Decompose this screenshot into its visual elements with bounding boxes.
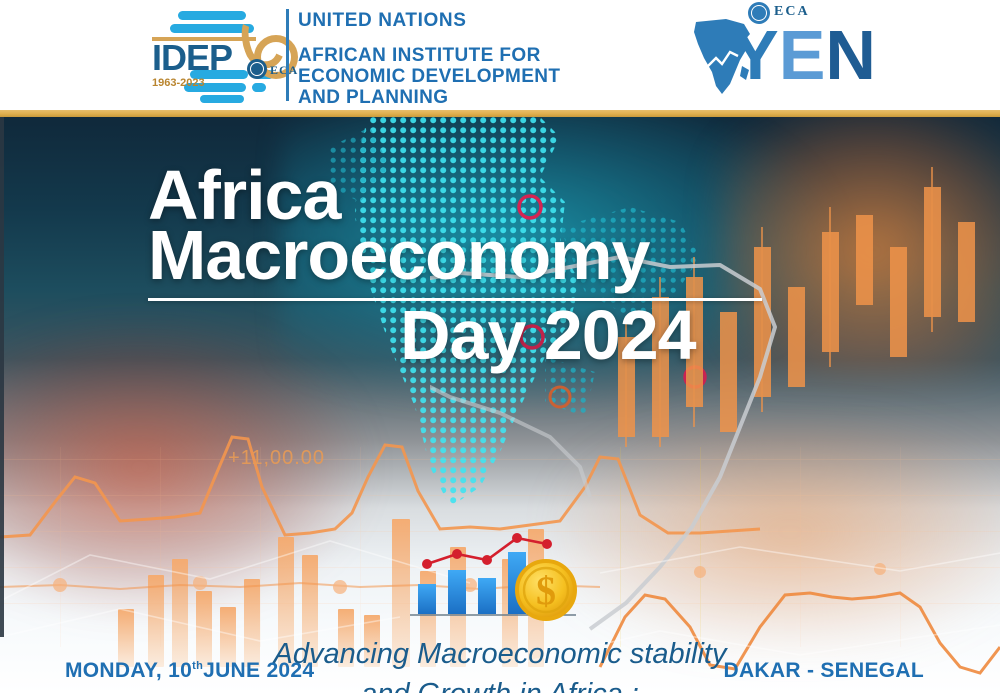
yen-letter-y: Y <box>732 16 779 94</box>
event-date-suffix: JUNE 2024 <box>203 659 314 682</box>
event-date-prefix: MONDAY, 10 <box>65 659 192 682</box>
svg-text:$: $ <box>536 568 556 613</box>
growth-chart-icon: $ <box>400 532 590 627</box>
org-line-economic: ECONOMIC DEVELOPMENT <box>298 66 560 87</box>
organisation-name-block: UNITED NATIONS AFRICAN INSTITUTE FOR ECO… <box>298 10 560 108</box>
ticker-value-label: +11,00.00 <box>228 447 325 470</box>
title-line-day-2024: Day 2024 <box>400 300 696 370</box>
page-footer: MONDAY, 10thJUNE 2024 DAKAR - SENEGAL <box>0 655 1000 693</box>
gold-divider-stripe <box>0 110 1000 117</box>
eca-mark-label: ECA <box>270 63 298 78</box>
header-divider <box>286 9 289 101</box>
org-line-planning: AND PLANNING <box>298 87 560 108</box>
un-emblem-icon <box>247 59 267 79</box>
org-line-united-nations: UNITED NATIONS <box>298 10 560 32</box>
event-location-label: DAKAR - SENEGAL <box>723 659 924 683</box>
event-date-ordinal: th <box>192 660 203 672</box>
title-line-macroeconomy: Macroeconomy <box>148 220 649 290</box>
page-header: IDEP ECA 1963-2023 UNITED NATIONS AFRICA… <box>0 0 1000 110</box>
event-banner: +11,00.00 Africa Macroeconomy Day 2024 <box>0 117 1000 693</box>
event-date-label: MONDAY, 10thJUNE 2024 <box>65 659 314 683</box>
yen-letter-e: E <box>779 16 826 94</box>
yen-wordmark: YEN <box>732 20 876 90</box>
banner-left-border <box>0 117 4 637</box>
yen-letter-n: N <box>825 16 876 94</box>
idep-wordmark: IDEP <box>152 40 232 76</box>
org-line-institute: AFRICAN INSTITUTE FOR <box>298 45 560 66</box>
idep-logo: IDEP ECA 1963-2023 <box>148 7 288 103</box>
yen-logo: ECA YEN <box>686 2 861 102</box>
idep-years-label: 1963-2023 <box>152 77 205 89</box>
poster-root: IDEP ECA 1963-2023 UNITED NATIONS AFRICA… <box>0 0 1000 693</box>
